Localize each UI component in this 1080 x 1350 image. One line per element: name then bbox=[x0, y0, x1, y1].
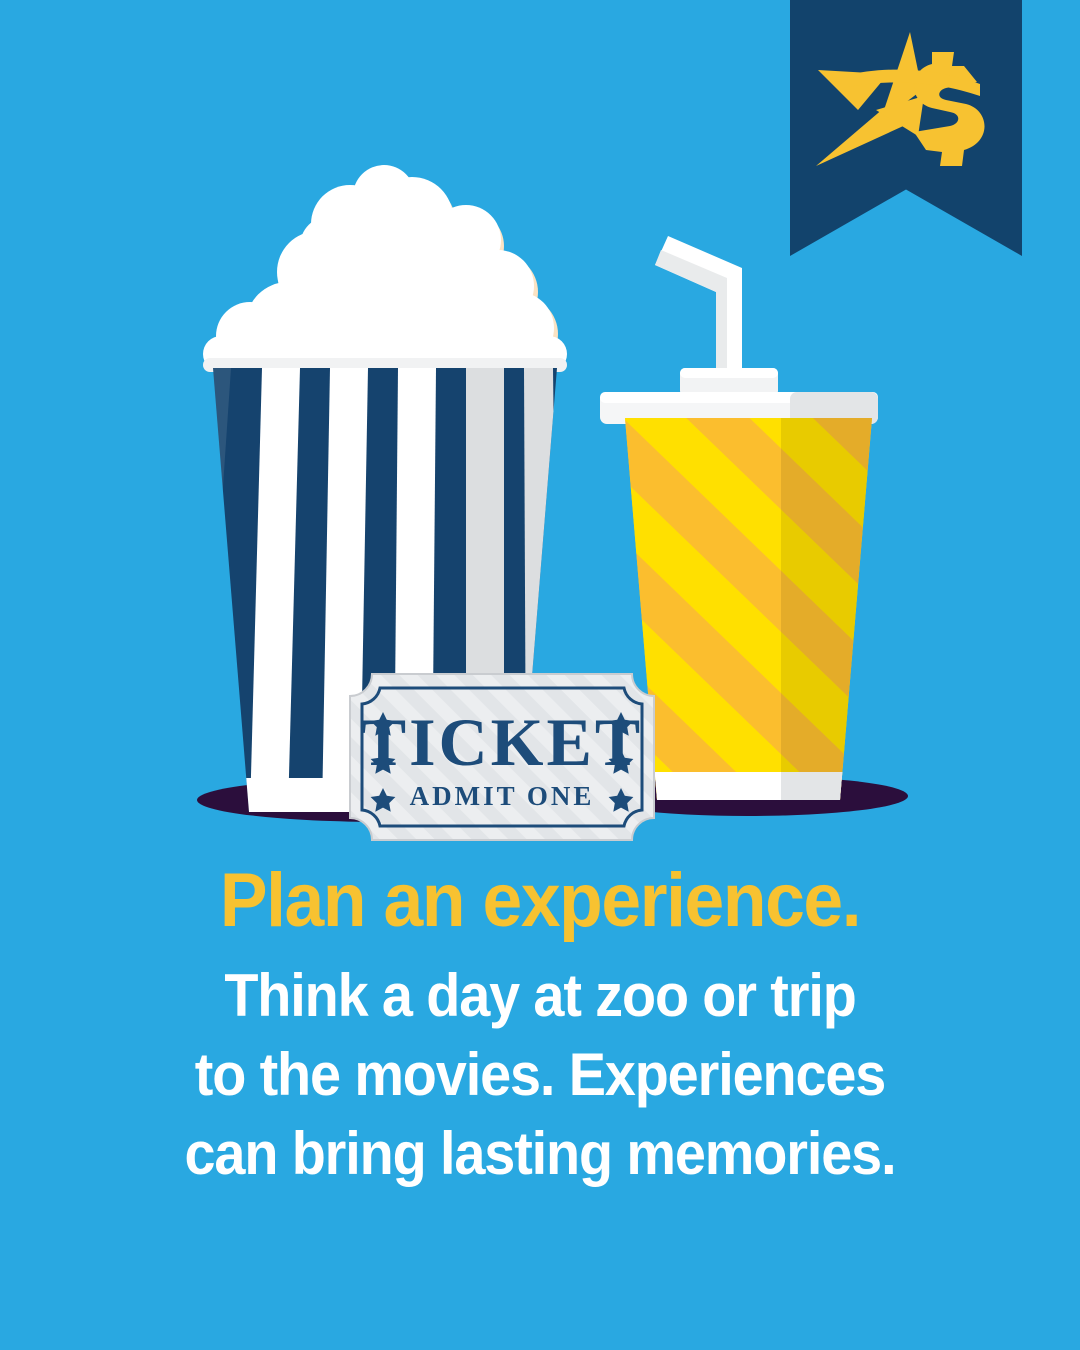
headline: Plan an experience. bbox=[32, 862, 1047, 940]
ticket-title: TICKET bbox=[361, 704, 644, 780]
admit-one-ticket: TICKET ADMIT ONE bbox=[350, 674, 654, 840]
body-line-3: can bring lasting memories. bbox=[75, 1114, 1005, 1193]
cup-shade-band bbox=[781, 410, 891, 810]
body-line-2: to the movies. Experiences bbox=[75, 1035, 1005, 1114]
brand-banner bbox=[790, 0, 1022, 256]
message-block: Plan an experience. Think a day at zoo o… bbox=[0, 862, 1080, 1193]
ticket-subtitle: ADMIT ONE bbox=[410, 781, 595, 811]
body-copy: Think a day at zoo or trip to the movies… bbox=[38, 956, 1042, 1193]
body-line-1: Think a day at zoo or trip bbox=[75, 956, 1005, 1035]
star-dollar-logo bbox=[814, 26, 1002, 176]
poster-canvas: TICKET ADMIT ONE Plan an experience. Thi… bbox=[0, 0, 1080, 1350]
